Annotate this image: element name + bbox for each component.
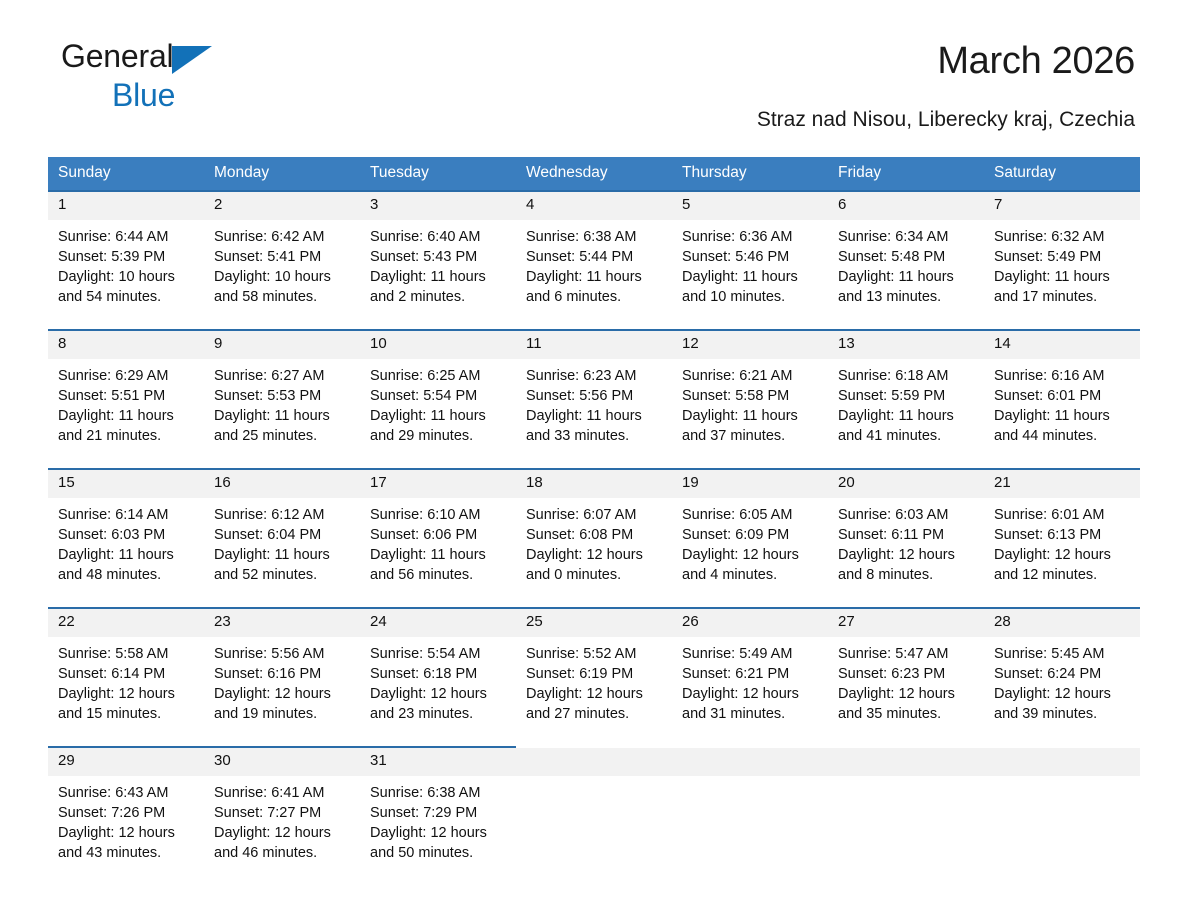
daylight-text: Daylight: 11 hours and 29 minutes.: [370, 406, 507, 446]
day-number: 13: [828, 331, 984, 359]
day-number: 30: [204, 748, 360, 776]
sunset-text: Sunset: 6:24 PM: [994, 664, 1131, 684]
sunrise-text: Sunrise: 5:58 AM: [58, 644, 195, 664]
sunrise-text: Sunrise: 6:14 AM: [58, 505, 195, 525]
calendar-week-row: 8Sunrise: 6:29 AMSunset: 5:51 PMDaylight…: [48, 330, 1140, 446]
day-info: Sunrise: 6:07 AMSunset: 6:08 PMDaylight:…: [516, 498, 672, 585]
weekday-header-monday: Monday: [204, 157, 360, 191]
sunrise-text: Sunrise: 5:54 AM: [370, 644, 507, 664]
day-number: 19: [672, 470, 828, 498]
page-subtitle: Straz nad Nisou, Liberecky kraj, Czechia: [757, 108, 1135, 132]
day-number: 12: [672, 331, 828, 359]
day-number: 18: [516, 470, 672, 498]
calendar-cell-empty: [828, 747, 984, 863]
calendar-body: 1Sunrise: 6:44 AMSunset: 5:39 PMDaylight…: [48, 191, 1140, 863]
sunset-text: Sunset: 5:58 PM: [682, 386, 819, 406]
day-number: [672, 748, 828, 776]
sunset-text: Sunset: 5:41 PM: [214, 247, 351, 267]
daylight-text: Daylight: 12 hours and 31 minutes.: [682, 684, 819, 724]
calendar-day-cell[interactable]: 1Sunrise: 6:44 AMSunset: 5:39 PMDaylight…: [48, 191, 204, 307]
calendar-day-cell[interactable]: 8Sunrise: 6:29 AMSunset: 5:51 PMDaylight…: [48, 330, 204, 446]
calendar-week-row: 1Sunrise: 6:44 AMSunset: 5:39 PMDaylight…: [48, 191, 1140, 307]
day-number: 8: [48, 331, 204, 359]
sunset-text: Sunset: 6:18 PM: [370, 664, 507, 684]
day-info: Sunrise: 6:38 AMSunset: 5:44 PMDaylight:…: [516, 220, 672, 307]
day-info: Sunrise: 6:14 AMSunset: 6:03 PMDaylight:…: [48, 498, 204, 585]
calendar-day-cell[interactable]: 27Sunrise: 5:47 AMSunset: 6:23 PMDayligh…: [828, 608, 984, 724]
day-number: [984, 748, 1140, 776]
sunset-text: Sunset: 6:14 PM: [58, 664, 195, 684]
day-info: Sunrise: 6:32 AMSunset: 5:49 PMDaylight:…: [984, 220, 1140, 307]
daylight-text: Daylight: 11 hours and 25 minutes.: [214, 406, 351, 446]
week-spacer: [48, 307, 1140, 330]
calendar-day-cell[interactable]: 15Sunrise: 6:14 AMSunset: 6:03 PMDayligh…: [48, 469, 204, 585]
daylight-text: Daylight: 11 hours and 48 minutes.: [58, 545, 195, 585]
calendar-day-cell[interactable]: 26Sunrise: 5:49 AMSunset: 6:21 PMDayligh…: [672, 608, 828, 724]
calendar-day-cell[interactable]: 25Sunrise: 5:52 AMSunset: 6:19 PMDayligh…: [516, 608, 672, 724]
calendar-day-cell[interactable]: 19Sunrise: 6:05 AMSunset: 6:09 PMDayligh…: [672, 469, 828, 585]
daylight-text: Daylight: 10 hours and 58 minutes.: [214, 267, 351, 307]
day-info: Sunrise: 6:05 AMSunset: 6:09 PMDaylight:…: [672, 498, 828, 585]
calendar-day-cell[interactable]: 7Sunrise: 6:32 AMSunset: 5:49 PMDaylight…: [984, 191, 1140, 307]
day-info: Sunrise: 5:56 AMSunset: 6:16 PMDaylight:…: [204, 637, 360, 724]
sunset-text: Sunset: 6:09 PM: [682, 525, 819, 545]
sunrise-text: Sunrise: 6:12 AM: [214, 505, 351, 525]
calendar-cell-empty: [516, 747, 672, 863]
day-info: Sunrise: 6:16 AMSunset: 6:01 PMDaylight:…: [984, 359, 1140, 446]
day-number: [828, 748, 984, 776]
daylight-text: Daylight: 11 hours and 37 minutes.: [682, 406, 819, 446]
sunrise-text: Sunrise: 6:01 AM: [994, 505, 1131, 525]
daylight-text: Daylight: 11 hours and 41 minutes.: [838, 406, 975, 446]
calendar-day-cell[interactable]: 29Sunrise: 6:43 AMSunset: 7:26 PMDayligh…: [48, 747, 204, 863]
logo-text-general: General: [61, 38, 173, 74]
day-info: Sunrise: 5:52 AMSunset: 6:19 PMDaylight:…: [516, 637, 672, 724]
calendar-day-cell[interactable]: 5Sunrise: 6:36 AMSunset: 5:46 PMDaylight…: [672, 191, 828, 307]
day-info: Sunrise: 6:03 AMSunset: 6:11 PMDaylight:…: [828, 498, 984, 585]
sunrise-text: Sunrise: 6:05 AM: [682, 505, 819, 525]
day-number: 7: [984, 192, 1140, 220]
calendar-cell-empty: [984, 747, 1140, 863]
sunrise-text: Sunrise: 6:32 AM: [994, 227, 1131, 247]
day-info: Sunrise: 6:01 AMSunset: 6:13 PMDaylight:…: [984, 498, 1140, 585]
day-info: Sunrise: 6:40 AMSunset: 5:43 PMDaylight:…: [360, 220, 516, 307]
daylight-text: Daylight: 11 hours and 13 minutes.: [838, 267, 975, 307]
calendar-day-cell[interactable]: 3Sunrise: 6:40 AMSunset: 5:43 PMDaylight…: [360, 191, 516, 307]
calendar-week-row: 22Sunrise: 5:58 AMSunset: 6:14 PMDayligh…: [48, 608, 1140, 724]
daylight-text: Daylight: 11 hours and 21 minutes.: [58, 406, 195, 446]
sunrise-text: Sunrise: 5:49 AM: [682, 644, 819, 664]
daylight-text: Daylight: 12 hours and 50 minutes.: [370, 823, 507, 863]
sunrise-text: Sunrise: 6:16 AM: [994, 366, 1131, 386]
sunset-text: Sunset: 6:04 PM: [214, 525, 351, 545]
day-number: 25: [516, 609, 672, 637]
sunset-text: Sunset: 6:11 PM: [838, 525, 975, 545]
sunrise-text: Sunrise: 6:27 AM: [214, 366, 351, 386]
day-info: Sunrise: 6:10 AMSunset: 6:06 PMDaylight:…: [360, 498, 516, 585]
calendar-day-cell[interactable]: 6Sunrise: 6:34 AMSunset: 5:48 PMDaylight…: [828, 191, 984, 307]
calendar-week-row: 15Sunrise: 6:14 AMSunset: 6:03 PMDayligh…: [48, 469, 1140, 585]
daylight-text: Daylight: 12 hours and 12 minutes.: [994, 545, 1131, 585]
day-number: 11: [516, 331, 672, 359]
day-number: 2: [204, 192, 360, 220]
day-info: Sunrise: 6:44 AMSunset: 5:39 PMDaylight:…: [48, 220, 204, 307]
day-info: Sunrise: 6:34 AMSunset: 5:48 PMDaylight:…: [828, 220, 984, 307]
daylight-text: Daylight: 11 hours and 52 minutes.: [214, 545, 351, 585]
week-spacer: [48, 446, 1140, 469]
sunrise-text: Sunrise: 6:41 AM: [214, 783, 351, 803]
day-number: 27: [828, 609, 984, 637]
daylight-text: Daylight: 12 hours and 39 minutes.: [994, 684, 1131, 724]
sunrise-text: Sunrise: 6:25 AM: [370, 366, 507, 386]
daylight-text: Daylight: 12 hours and 4 minutes.: [682, 545, 819, 585]
sunrise-text: Sunrise: 6:44 AM: [58, 227, 195, 247]
weekday-header-friday: Friday: [828, 157, 984, 191]
logo-text-blue: Blue: [112, 77, 175, 113]
day-number: 20: [828, 470, 984, 498]
day-number: 9: [204, 331, 360, 359]
week-spacer-cell: [48, 446, 1140, 469]
sunset-text: Sunset: 6:08 PM: [526, 525, 663, 545]
calendar-day-cell[interactable]: 18Sunrise: 6:07 AMSunset: 6:08 PMDayligh…: [516, 469, 672, 585]
daylight-text: Daylight: 11 hours and 17 minutes.: [994, 267, 1131, 307]
calendar-day-cell[interactable]: 22Sunrise: 5:58 AMSunset: 6:14 PMDayligh…: [48, 608, 204, 724]
calendar-day-cell[interactable]: 13Sunrise: 6:18 AMSunset: 5:59 PMDayligh…: [828, 330, 984, 446]
calendar-day-cell[interactable]: 16Sunrise: 6:12 AMSunset: 6:04 PMDayligh…: [204, 469, 360, 585]
daylight-text: Daylight: 12 hours and 46 minutes.: [214, 823, 351, 863]
day-number: 16: [204, 470, 360, 498]
day-number: 23: [204, 609, 360, 637]
sunset-text: Sunset: 6:01 PM: [994, 386, 1131, 406]
sunrise-text: Sunrise: 5:52 AM: [526, 644, 663, 664]
sunrise-text: Sunrise: 6:10 AM: [370, 505, 507, 525]
day-number: 15: [48, 470, 204, 498]
day-info: Sunrise: 6:25 AMSunset: 5:54 PMDaylight:…: [360, 359, 516, 446]
sunrise-text: Sunrise: 6:23 AM: [526, 366, 663, 386]
day-info: Sunrise: 5:58 AMSunset: 6:14 PMDaylight:…: [48, 637, 204, 724]
sunset-text: Sunset: 7:29 PM: [370, 803, 507, 823]
week-spacer-cell: [48, 724, 1140, 747]
day-info: Sunrise: 5:49 AMSunset: 6:21 PMDaylight:…: [672, 637, 828, 724]
sunset-text: Sunset: 5:53 PM: [214, 386, 351, 406]
calendar-header-row: Sunday Monday Tuesday Wednesday Thursday…: [48, 157, 1140, 191]
calendar-page: General Blue March 2026 Straz nad Nisou,…: [0, 0, 1188, 918]
day-number: 3: [360, 192, 516, 220]
calendar-day-cell[interactable]: 4Sunrise: 6:38 AMSunset: 5:44 PMDaylight…: [516, 191, 672, 307]
day-info: Sunrise: 6:42 AMSunset: 5:41 PMDaylight:…: [204, 220, 360, 307]
day-number: 5: [672, 192, 828, 220]
day-info: Sunrise: 6:21 AMSunset: 5:58 PMDaylight:…: [672, 359, 828, 446]
day-number: 1: [48, 192, 204, 220]
weekday-header-saturday: Saturday: [984, 157, 1140, 191]
sunset-text: Sunset: 5:48 PM: [838, 247, 975, 267]
sunrise-text: Sunrise: 6:34 AM: [838, 227, 975, 247]
sunset-text: Sunset: 6:13 PM: [994, 525, 1131, 545]
calendar-week-row: 29Sunrise: 6:43 AMSunset: 7:26 PMDayligh…: [48, 747, 1140, 863]
day-info: Sunrise: 5:54 AMSunset: 6:18 PMDaylight:…: [360, 637, 516, 724]
day-info: Sunrise: 6:29 AMSunset: 5:51 PMDaylight:…: [48, 359, 204, 446]
daylight-text: Daylight: 12 hours and 43 minutes.: [58, 823, 195, 863]
sunrise-text: Sunrise: 5:45 AM: [994, 644, 1131, 664]
sunset-text: Sunset: 5:49 PM: [994, 247, 1131, 267]
day-info: Sunrise: 6:27 AMSunset: 5:53 PMDaylight:…: [204, 359, 360, 446]
day-number: [516, 748, 672, 776]
calendar-day-cell[interactable]: 21Sunrise: 6:01 AMSunset: 6:13 PMDayligh…: [984, 469, 1140, 585]
calendar-day-cell[interactable]: 17Sunrise: 6:10 AMSunset: 6:06 PMDayligh…: [360, 469, 516, 585]
daylight-text: Daylight: 11 hours and 33 minutes.: [526, 406, 663, 446]
sunrise-text: Sunrise: 6:07 AM: [526, 505, 663, 525]
day-info: Sunrise: 6:23 AMSunset: 5:56 PMDaylight:…: [516, 359, 672, 446]
page-title: March 2026: [937, 40, 1135, 83]
day-number: 28: [984, 609, 1140, 637]
day-number: 31: [360, 748, 516, 776]
day-number: 6: [828, 192, 984, 220]
sunset-text: Sunset: 5:56 PM: [526, 386, 663, 406]
day-info: Sunrise: 6:18 AMSunset: 5:59 PMDaylight:…: [828, 359, 984, 446]
sunrise-text: Sunrise: 6:36 AM: [682, 227, 819, 247]
day-info: Sunrise: 5:47 AMSunset: 6:23 PMDaylight:…: [828, 637, 984, 724]
daylight-text: Daylight: 11 hours and 2 minutes.: [370, 267, 507, 307]
calendar-day-cell[interactable]: 11Sunrise: 6:23 AMSunset: 5:56 PMDayligh…: [516, 330, 672, 446]
daylight-text: Daylight: 12 hours and 35 minutes.: [838, 684, 975, 724]
weekday-header-thursday: Thursday: [672, 157, 828, 191]
day-number: 24: [360, 609, 516, 637]
daylight-text: Daylight: 12 hours and 15 minutes.: [58, 684, 195, 724]
day-number: 21: [984, 470, 1140, 498]
day-info: Sunrise: 5:45 AMSunset: 6:24 PMDaylight:…: [984, 637, 1140, 724]
daylight-text: Daylight: 12 hours and 8 minutes.: [838, 545, 975, 585]
logo-top-row: General: [61, 40, 321, 78]
sunset-text: Sunset: 5:51 PM: [58, 386, 195, 406]
sunset-text: Sunset: 5:54 PM: [370, 386, 507, 406]
sunrise-text: Sunrise: 6:18 AM: [838, 366, 975, 386]
sunrise-text: Sunrise: 6:29 AM: [58, 366, 195, 386]
calendar-day-cell[interactable]: 10Sunrise: 6:25 AMSunset: 5:54 PMDayligh…: [360, 330, 516, 446]
sunrise-text: Sunrise: 5:56 AM: [214, 644, 351, 664]
weekday-header-tuesday: Tuesday: [360, 157, 516, 191]
daylight-text: Daylight: 11 hours and 56 minutes.: [370, 545, 507, 585]
sunset-text: Sunset: 6:06 PM: [370, 525, 507, 545]
week-spacer: [48, 724, 1140, 747]
day-number: 29: [48, 748, 204, 776]
sunset-text: Sunset: 6:16 PM: [214, 664, 351, 684]
sunset-text: Sunset: 5:43 PM: [370, 247, 507, 267]
weekday-header-wednesday: Wednesday: [516, 157, 672, 191]
daylight-text: Daylight: 12 hours and 23 minutes.: [370, 684, 507, 724]
day-number: 26: [672, 609, 828, 637]
week-spacer: [48, 585, 1140, 608]
sunset-text: Sunset: 6:23 PM: [838, 664, 975, 684]
sunset-text: Sunset: 5:39 PM: [58, 247, 195, 267]
daylight-text: Daylight: 11 hours and 44 minutes.: [994, 406, 1131, 446]
day-info: Sunrise: 6:12 AMSunset: 6:04 PMDaylight:…: [204, 498, 360, 585]
weekday-header-sunday: Sunday: [48, 157, 204, 191]
sunset-text: Sunset: 6:21 PM: [682, 664, 819, 684]
sunrise-text: Sunrise: 6:40 AM: [370, 227, 507, 247]
day-info: Sunrise: 6:36 AMSunset: 5:46 PMDaylight:…: [672, 220, 828, 307]
sunrise-text: Sunrise: 6:42 AM: [214, 227, 351, 247]
daylight-text: Daylight: 12 hours and 19 minutes.: [214, 684, 351, 724]
calendar-table: Sunday Monday Tuesday Wednesday Thursday…: [48, 157, 1140, 863]
daylight-text: Daylight: 12 hours and 27 minutes.: [526, 684, 663, 724]
sunset-text: Sunset: 5:46 PM: [682, 247, 819, 267]
daylight-text: Daylight: 11 hours and 10 minutes.: [682, 267, 819, 307]
sunrise-text: Sunrise: 6:38 AM: [526, 227, 663, 247]
day-number: 17: [360, 470, 516, 498]
triangle-logo-icon: [172, 46, 212, 74]
sunrise-text: Sunrise: 5:47 AM: [838, 644, 975, 664]
sunrise-text: Sunrise: 6:43 AM: [58, 783, 195, 803]
calendar-day-cell[interactable]: 14Sunrise: 6:16 AMSunset: 6:01 PMDayligh…: [984, 330, 1140, 446]
week-spacer-cell: [48, 307, 1140, 330]
daylight-text: Daylight: 11 hours and 6 minutes.: [526, 267, 663, 307]
calendar-cell-empty: [672, 747, 828, 863]
calendar-day-cell[interactable]: 2Sunrise: 6:42 AMSunset: 5:41 PMDaylight…: [204, 191, 360, 307]
day-number: 4: [516, 192, 672, 220]
calendar-day-cell[interactable]: 20Sunrise: 6:03 AMSunset: 6:11 PMDayligh…: [828, 469, 984, 585]
general-blue-logo: General Blue: [61, 40, 321, 116]
sunrise-text: Sunrise: 6:03 AM: [838, 505, 975, 525]
calendar-day-cell[interactable]: 23Sunrise: 5:56 AMSunset: 6:16 PMDayligh…: [204, 608, 360, 724]
sunrise-text: Sunrise: 6:38 AM: [370, 783, 507, 803]
sunset-text: Sunset: 5:59 PM: [838, 386, 975, 406]
day-info: Sunrise: 6:43 AMSunset: 7:26 PMDaylight:…: [48, 776, 204, 863]
sunset-text: Sunset: 7:26 PM: [58, 803, 195, 823]
calendar-day-cell[interactable]: 30Sunrise: 6:41 AMSunset: 7:27 PMDayligh…: [204, 747, 360, 863]
sunset-text: Sunset: 6:03 PM: [58, 525, 195, 545]
calendar-day-cell[interactable]: 12Sunrise: 6:21 AMSunset: 5:58 PMDayligh…: [672, 330, 828, 446]
daylight-text: Daylight: 10 hours and 54 minutes.: [58, 267, 195, 307]
sunrise-text: Sunrise: 6:21 AM: [682, 366, 819, 386]
day-info: Sunrise: 6:38 AMSunset: 7:29 PMDaylight:…: [360, 776, 516, 863]
sunset-text: Sunset: 6:19 PM: [526, 664, 663, 684]
sunset-text: Sunset: 5:44 PM: [526, 247, 663, 267]
week-spacer-cell: [48, 585, 1140, 608]
calendar-day-cell[interactable]: 9Sunrise: 6:27 AMSunset: 5:53 PMDaylight…: [204, 330, 360, 446]
daylight-text: Daylight: 12 hours and 0 minutes.: [526, 545, 663, 585]
sunset-text: Sunset: 7:27 PM: [214, 803, 351, 823]
logo-bottom-row: Blue: [61, 79, 321, 115]
day-number: 14: [984, 331, 1140, 359]
calendar-day-cell[interactable]: 24Sunrise: 5:54 AMSunset: 6:18 PMDayligh…: [360, 608, 516, 724]
calendar-day-cell[interactable]: 31Sunrise: 6:38 AMSunset: 7:29 PMDayligh…: [360, 747, 516, 863]
day-number: 10: [360, 331, 516, 359]
page-header: General Blue March 2026 Straz nad Nisou,…: [48, 0, 1140, 110]
day-number: 22: [48, 609, 204, 637]
day-info: Sunrise: 6:41 AMSunset: 7:27 PMDaylight:…: [204, 776, 360, 863]
calendar-day-cell[interactable]: 28Sunrise: 5:45 AMSunset: 6:24 PMDayligh…: [984, 608, 1140, 724]
